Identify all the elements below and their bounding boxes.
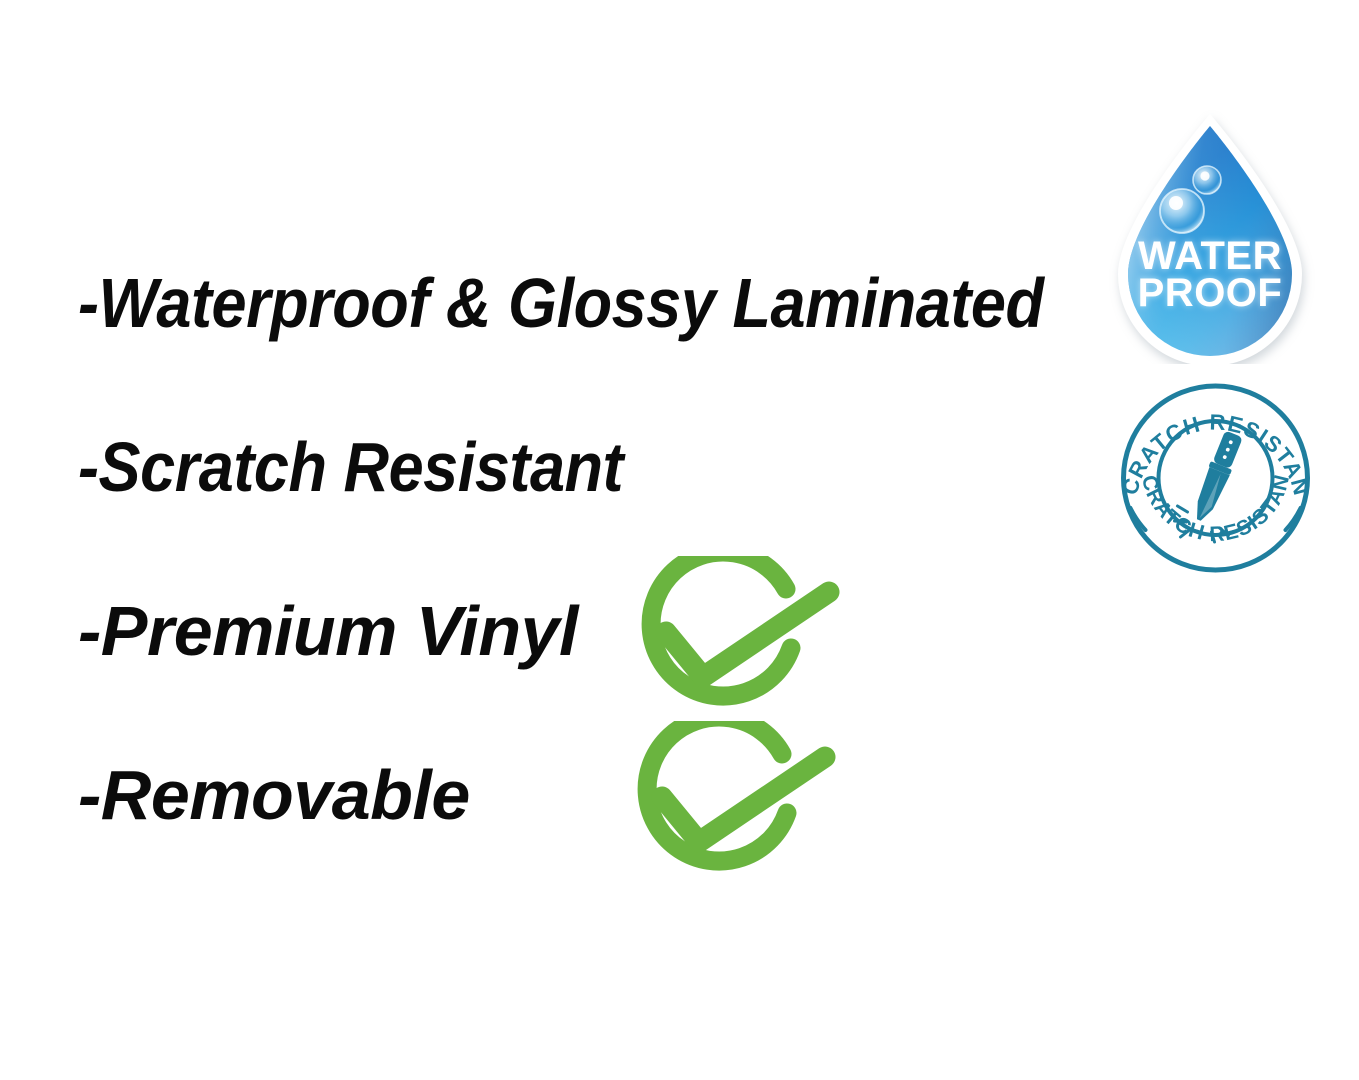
knife-blade <box>1190 467 1230 524</box>
waterproof-badge: WATER PROOF <box>1104 108 1316 364</box>
check-circle-icon-2-svg <box>632 721 837 881</box>
check-mark-stroke-2 <box>662 757 825 842</box>
feature-item-waterproof-glossy-laminated: -Waterproof & Glossy Laminated <box>78 268 1044 338</box>
check-circle-icon-2 <box>632 721 837 881</box>
water-drop-icon <box>1104 108 1316 364</box>
water-bubble-small-highlight <box>1200 171 1209 180</box>
impact-line-2 <box>1175 521 1187 522</box>
feature-list-graphic: -Waterproof & Glossy Laminated -Scratch … <box>0 0 1359 1080</box>
water-drop-sheen <box>1128 126 1292 356</box>
scratch-resistant-badge: SCRATCH RESISTANT SCRATCH RESISTANT <box>1113 380 1318 576</box>
feature-item-premium-vinyl: -Premium Vinyl <box>78 596 578 666</box>
feature-item-scratch-resistant: -Scratch Resistant <box>78 432 623 502</box>
check-circle-icon-1-svg <box>636 556 841 716</box>
scratch-resistant-icon: SCRATCH RESISTANT SCRATCH RESISTANT <box>1113 380 1318 576</box>
feature-item-removable: -Removable <box>78 760 470 830</box>
water-bubble-large-icon <box>1160 189 1204 233</box>
knife-icon <box>1189 430 1245 525</box>
check-circle-icon-1 <box>636 556 841 716</box>
water-bubble-large-highlight <box>1169 196 1183 210</box>
check-mark-stroke-1 <box>666 592 829 677</box>
